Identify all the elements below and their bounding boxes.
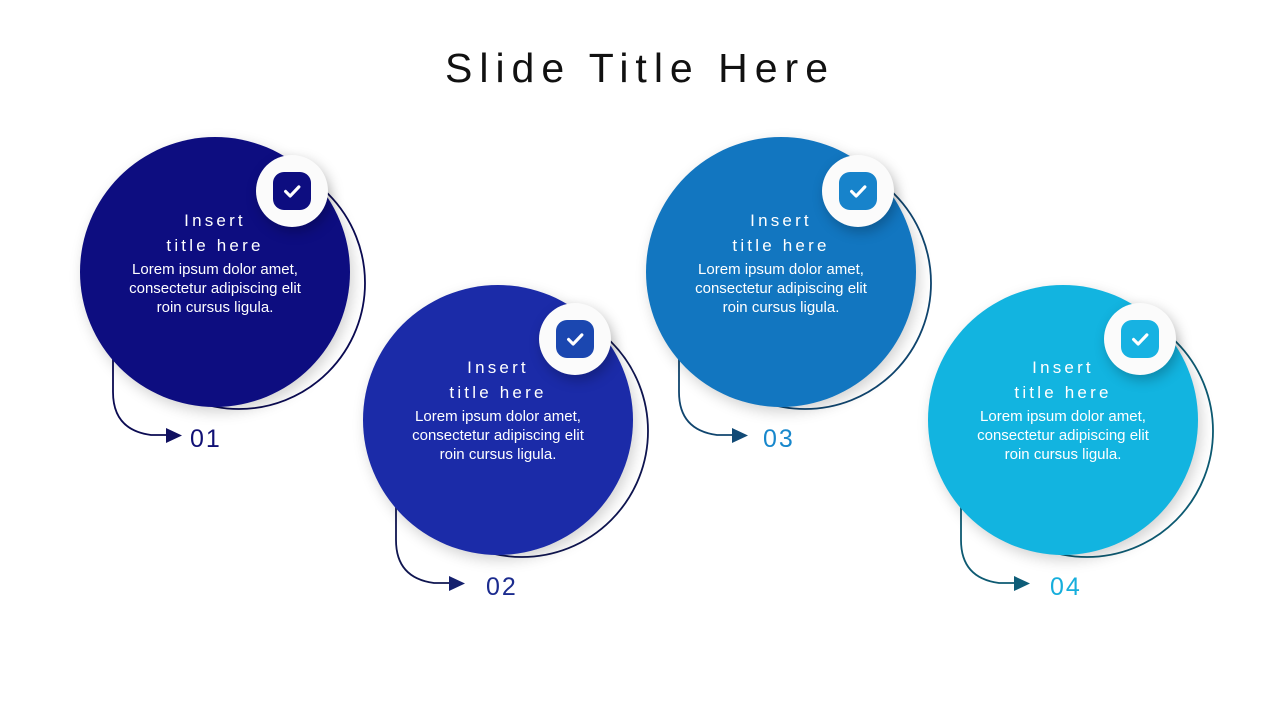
info-group-04[interactable]: Insert title here Lorem ipsum dolor amet… [0,0,1280,720]
step-number-04: 04 [1050,573,1082,602]
arrowhead-04 [1014,576,1030,591]
check-icon-backing-04 [1121,320,1159,358]
check-badge-04[interactable] [1104,303,1176,375]
circle-heading-line2-04: title here [968,380,1158,405]
slide-canvas: Slide Title Here Insert title here Lorem… [0,0,1280,720]
circle-body-04: Lorem ipsum dolor amet, consectetur adip… [968,407,1158,464]
check-icon [1129,328,1151,350]
